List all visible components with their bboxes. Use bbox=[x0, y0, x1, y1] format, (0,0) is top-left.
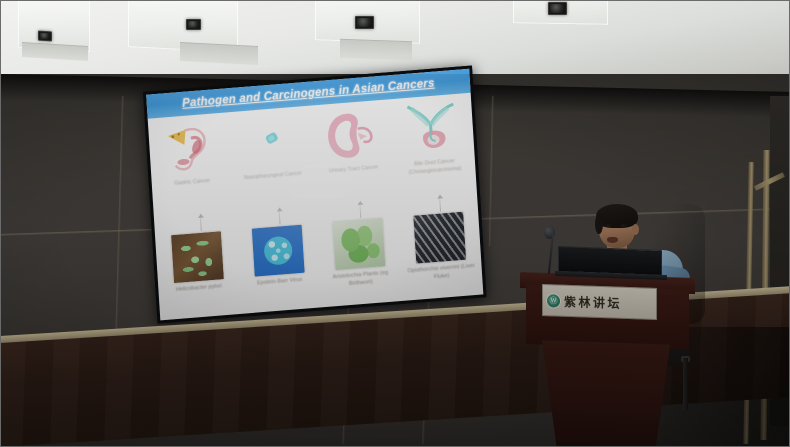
ceiling-spotlight-2 bbox=[186, 19, 201, 30]
presentation-slide: Pathogen and Carcinogens in Asian Cancer… bbox=[146, 69, 483, 321]
epstein-barr-virus-image bbox=[251, 225, 304, 277]
laptop bbox=[558, 248, 662, 274]
presenter-eye-right bbox=[620, 224, 626, 227]
presenter-ear bbox=[632, 224, 639, 235]
lectern-body bbox=[542, 340, 670, 447]
nasopharynx-diagram-icon bbox=[238, 110, 303, 173]
slide-top-row: Gastric Cancer Nasopharyngeal Cancer bbox=[148, 97, 477, 219]
lecture-hall-photo: Pathogen and Carcinogens in Asian Cancer… bbox=[0, 0, 790, 447]
slide-body: Gastric Cancer Nasopharyngeal Cancer bbox=[148, 93, 484, 321]
presenter-mouth bbox=[607, 237, 618, 243]
helicobacter-micrograph-image bbox=[171, 231, 224, 283]
presenter-hair-side bbox=[595, 214, 603, 234]
slide-cell-bileduct: Bile Duct Cancer (Cholangiocarcinoma) bbox=[390, 97, 477, 199]
ceiling-spotlight-4 bbox=[548, 2, 567, 15]
slide-arrow-2 bbox=[279, 208, 281, 224]
slide-cell-helicobacter: Helicobacter pylori bbox=[155, 230, 242, 320]
lectern-sign: Ⓦ 紫林讲坛 bbox=[542, 284, 657, 320]
institution-logo-icon: Ⓦ bbox=[547, 294, 560, 307]
aristolochia-plant-image bbox=[332, 218, 385, 270]
slide-caption-aristolochia: Aristolochia Plants (eg Birthwort) bbox=[322, 268, 400, 291]
slide-cell-gastric: Gastric Cancer bbox=[148, 116, 235, 218]
slide-arrow-3 bbox=[359, 202, 361, 218]
kidney-diagram-icon bbox=[319, 104, 384, 167]
slide-arrow-1 bbox=[200, 215, 202, 231]
projection-screen: Pathogen and Carcinogens in Asian Cancer… bbox=[143, 66, 487, 324]
slide-cell-ebv: Epstein-Barr Virus bbox=[236, 224, 323, 321]
bile-duct-diagram-icon bbox=[400, 97, 465, 160]
ceiling-recess-2 bbox=[180, 42, 258, 65]
liver-fluke-image bbox=[413, 212, 466, 264]
slide-caption-helicobacter: Helicobacter pylori bbox=[176, 282, 222, 294]
slide-arrow-4 bbox=[439, 196, 441, 212]
ceiling-spotlight-3 bbox=[355, 16, 374, 29]
slide-caption-gastric: Gastric Cancer bbox=[174, 178, 210, 189]
slide-caption-bileduct: Bile Duct Cancer (Cholangiocarcinoma) bbox=[396, 157, 474, 179]
wall-seam-vertical-5 bbox=[489, 96, 494, 246]
ceiling-spotlight-1 bbox=[38, 31, 52, 42]
ceiling-recess-3 bbox=[340, 39, 412, 61]
slide-cell-urinary: Urinary Tract Cancer bbox=[309, 103, 396, 205]
lectern-sign-text: 紫林讲坛 bbox=[564, 292, 622, 311]
presenter-eye-left bbox=[605, 224, 611, 227]
stomach-diagram-icon bbox=[157, 117, 222, 180]
slide-caption-ebv: Epstein-Barr Virus bbox=[257, 276, 303, 288]
lectern: Ⓦ 紫林讲坛 bbox=[520, 272, 695, 447]
slide-cell-nasopharyngeal: Nasopharyngeal Cancer bbox=[229, 110, 316, 212]
slide-caption-urinary: Urinary Tract Cancer bbox=[329, 164, 379, 176]
slide-caption-liverfluke: Opisthorchis viverrini (Liver Fluke) bbox=[403, 262, 481, 285]
ceiling-recess-1 bbox=[22, 42, 88, 61]
